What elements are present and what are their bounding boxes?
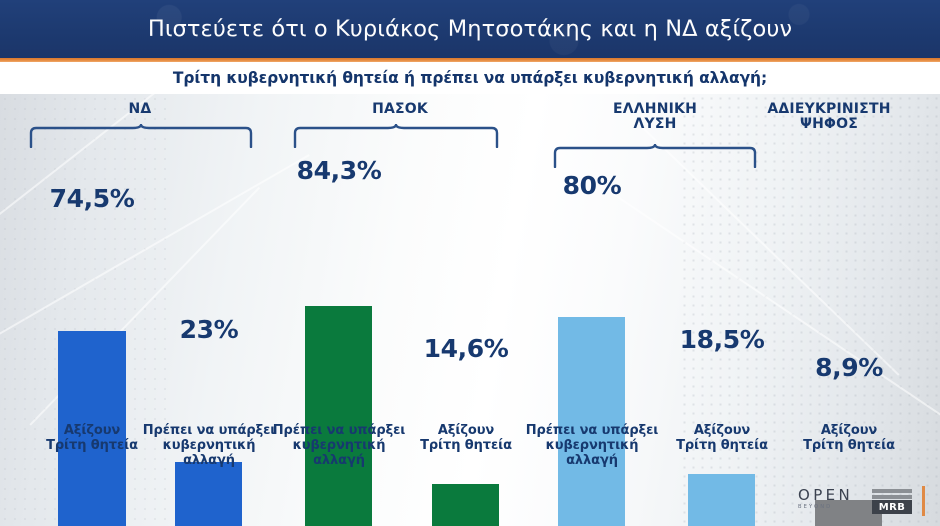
brace-elliniki-lysi [552,144,758,168]
bar-1 [175,462,242,526]
open-logo-word: OPEN [798,488,860,503]
group-label-elliniki-lysi-line1: ΕΛΛΗΝΙΚΗ [575,102,735,117]
mrb-bar-mid [872,495,912,499]
bar-category-2-line1: Πρέπει να υπάρξει [269,423,409,439]
group-label-nd: ΝΔ [60,102,220,117]
brace-nd [28,124,254,148]
bar-3 [432,484,499,526]
subtitle: Τρίτη κυβερνητική θητεία ή πρέπει να υπά… [173,69,767,87]
bar-value-5: 18,5% [642,325,802,354]
bar-category-2-line2: κυβερνητική [269,438,409,454]
bar-category-5-line2: Τρίτη θητεία [652,438,792,454]
bar-category-6-line1: Αξίζουν [779,423,919,439]
bar-category-4-line1: Πρέπει να υπάρξει [522,423,662,439]
subtitle-band: Τρίτη κυβερνητική θητεία ή πρέπει να υπά… [0,62,940,94]
group-label-adieykrinisti-line1: ΑΔΙΕΥΚΡΙΝΙΣΤΗ [744,102,914,117]
open-beyond-logo: OPEN BEYOND [798,488,860,514]
mrb-logo-text: MRB [872,500,912,514]
broadcaster-logos: OPEN BEYOND MRB [798,486,930,518]
group-label-pasok: ΠΑΣΟΚ [320,102,480,117]
bar-category-3-line2: Τρίτη θητεία [396,438,536,454]
bar-category-4-line2: κυβερνητική [522,438,662,454]
bar-value-3: 14,6% [386,334,546,363]
bar-value-0: 74,5% [12,184,172,213]
open-logo-subtitle: BEYOND [798,503,860,511]
poll-graphic: Πιστεύετε ότι ο Κυριάκος Μητσοτάκης και … [0,0,940,526]
bar-category-5-line1: Αξίζουν [652,423,792,439]
bar-4 [558,317,625,526]
bar-category-6-line2: Τρίτη θητεία [779,438,919,454]
header-banner: Πιστεύετε ότι ο Κυριάκος Μητσοτάκης και … [0,0,940,58]
group-label-elliniki-lysi-line2: ΛΥΣΗ [575,117,735,132]
mrb-logo: MRB [872,489,912,514]
page-title: Πιστεύετε ότι ο Κυριάκος Μητσοτάκης και … [0,0,940,58]
brace-pasok [292,124,500,148]
bar-5 [688,474,755,526]
orange-tick [922,486,925,516]
bar-category-1-line2: κυβερνητική [139,438,279,454]
bar-value-2: 84,3% [259,156,419,185]
bar-category-1-line3: αλλαγή [139,453,279,469]
bar-value-6: 8,9% [769,353,929,382]
bar-category-1-line1: Πρέπει να υπάρξει [139,423,279,439]
mrb-bar-top [872,489,912,493]
bar-value-1: 23% [129,315,289,344]
bar-category-4-line3: αλλαγή [522,453,662,469]
group-label-adieykrinisti-line2: ΨΗΦΟΣ [744,117,914,132]
bar-category-3-line1: Αξίζουν [396,423,536,439]
bar-2 [305,306,372,526]
bar-value-4: 80% [512,171,672,200]
bar-category-2-line3: αλλαγή [269,453,409,469]
